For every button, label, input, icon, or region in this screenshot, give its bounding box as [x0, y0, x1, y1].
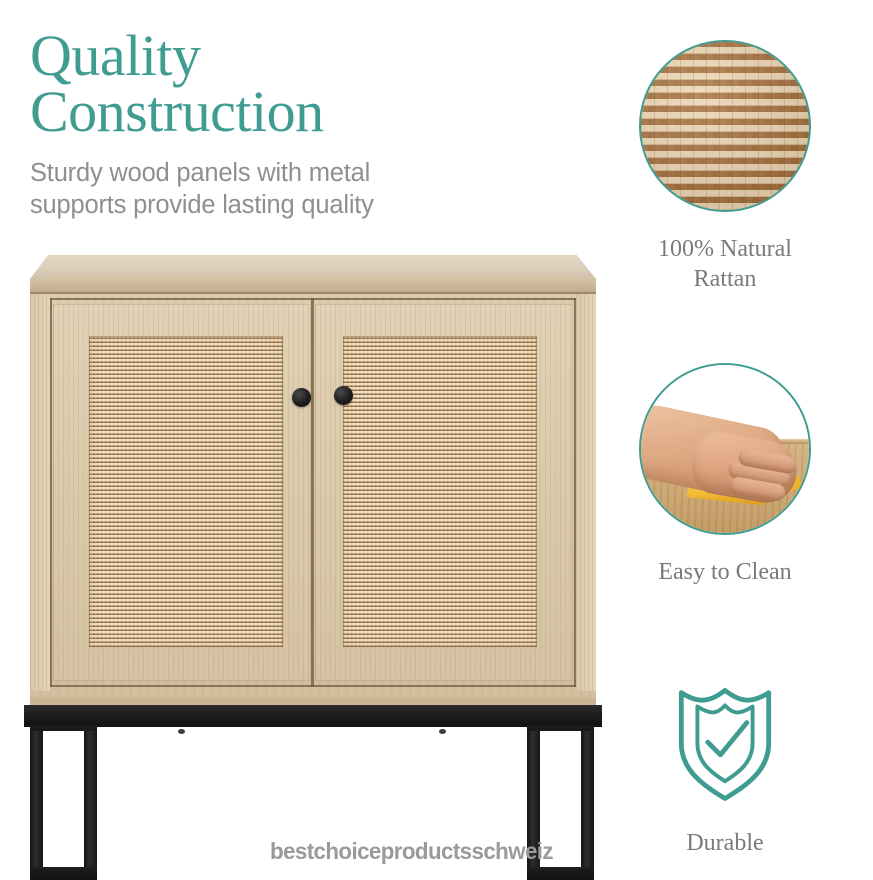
leg-brace-left: [30, 725, 97, 731]
leg-brace-right: [527, 725, 594, 731]
feature-label-clean: Easy to Clean: [605, 557, 845, 587]
cabinet-side-panel-left: [30, 294, 50, 691]
cabinet-knob-right[interactable]: [334, 386, 353, 405]
shield-check-icon: [639, 672, 811, 810]
door-center-seam: [311, 298, 314, 687]
infographic-canvas: Quality Construction Sturdy wood panels …: [0, 0, 873, 873]
base-screw-right: [439, 729, 446, 734]
feature-label-durable: Durable: [605, 828, 845, 858]
cabinet-knob-left[interactable]: [292, 388, 311, 407]
rattan-weave-texture: [641, 42, 809, 210]
subheadline-line-2: supports provide lasting quality: [30, 189, 460, 222]
rattan-weave-circle-icon: [639, 40, 811, 212]
feature-label-rattan: 100% Natural Rattan: [605, 234, 845, 294]
feature-durable: Durable: [605, 672, 845, 858]
leg-foot-right: [527, 867, 594, 880]
headline-line-2: Construction: [30, 84, 550, 140]
metal-leg-front-right: [581, 725, 594, 880]
feature-easy-to-clean: Easy to Clean: [605, 363, 845, 587]
metal-base-apron: [24, 705, 602, 727]
subheadline-line-1: Sturdy wood panels with metal: [30, 157, 460, 190]
door-reveal-right: [574, 298, 576, 687]
shield-check-svg: [639, 672, 811, 810]
feature-label-rattan-line1: 100% Natural: [605, 234, 845, 264]
cabinet-top-edge: [30, 278, 596, 294]
cleaning-photo: [641, 365, 809, 533]
rattan-panel-left: [89, 336, 283, 647]
metal-leg-front-left: [30, 725, 43, 880]
hand-wiping-cloth-circle-icon: [639, 363, 811, 535]
subheadline: Sturdy wood panels with metal supports p…: [30, 157, 460, 222]
check-path: [708, 723, 747, 755]
page-title: Quality Construction: [30, 28, 550, 141]
cabinet-door-right[interactable]: [315, 304, 573, 681]
product-image: [8, 255, 616, 855]
rattan-panel-right: [343, 336, 537, 647]
feature-label-rattan-line2: Rattan: [605, 264, 845, 294]
headline-line-1: Quality: [30, 23, 200, 88]
watermark: bestchoiceproductsschweiz: [270, 838, 553, 865]
headline-block: Quality Construction Sturdy wood panels …: [30, 28, 550, 222]
cabinet-door-left[interactable]: [53, 304, 311, 681]
metal-leg-back-left: [84, 725, 97, 880]
feature-label-clean-line1: Easy to Clean: [605, 557, 845, 587]
leg-foot-left: [30, 867, 97, 880]
feature-label-durable-line1: Durable: [605, 828, 845, 858]
door-reveal-left: [50, 298, 52, 687]
feature-natural-rattan: 100% Natural Rattan: [605, 40, 845, 294]
cabinet-side-panel-right: [576, 294, 596, 691]
cabinet-top-surface: [30, 255, 596, 279]
cabinet-carcass: [30, 294, 596, 705]
base-screw-left: [178, 729, 185, 734]
